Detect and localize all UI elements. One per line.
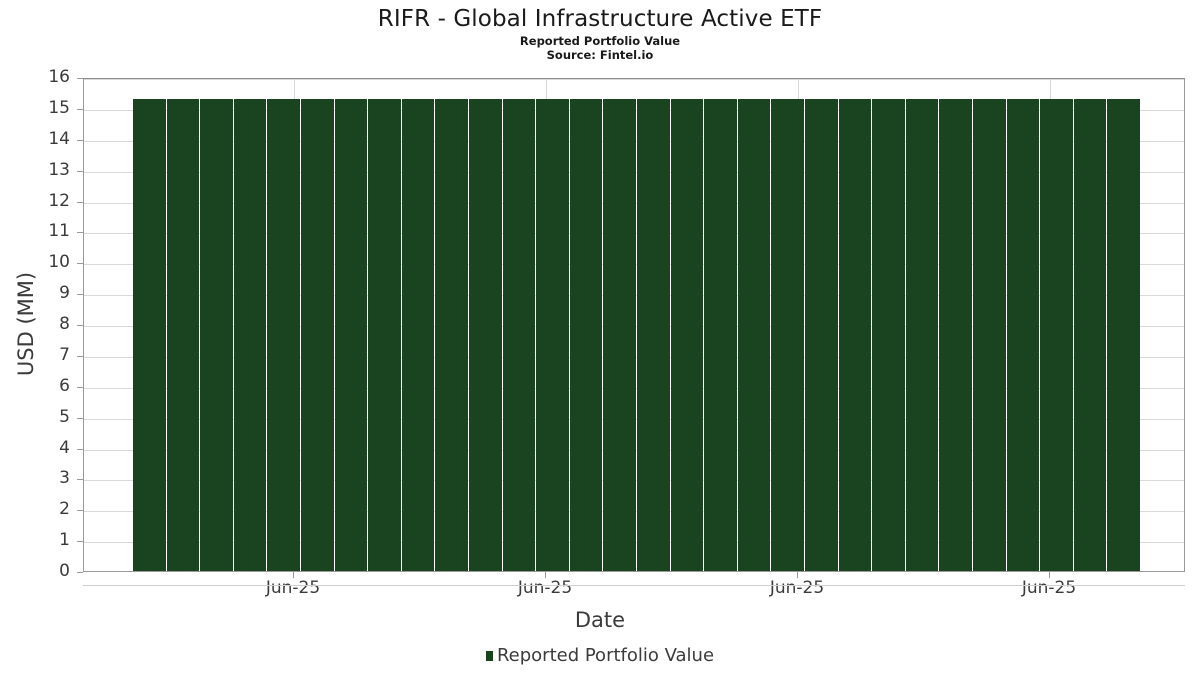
legend-label: Reported Portfolio Value [497,646,714,666]
y-axis-tick-label: 2 [10,501,70,518]
page-title: RIFR - Global Infrastructure Active ETF [0,4,1200,34]
y-axis-tick-mark [77,479,83,480]
legend-swatch-icon [486,651,493,661]
y-axis-tick-label: 14 [10,131,70,148]
bar [301,99,334,571]
bar [234,99,267,571]
y-axis-tick-mark [77,387,83,388]
y-axis-tick-mark [77,294,83,295]
y-axis-tick-mark [77,78,83,79]
y-axis-tick-mark [77,572,83,573]
bar [335,99,368,571]
bar [1107,99,1140,571]
y-axis-tick-label: 1 [10,532,70,549]
bar [637,99,670,571]
x-axis-title: Date [0,608,1200,632]
chart-subtitle: Reported Portfolio Value [0,34,1200,48]
y-axis-tick-label: 15 [10,100,70,117]
y-axis-title: USD (MM) [14,204,38,444]
y-axis-tick-mark [77,109,83,110]
y-axis-tick-mark [77,263,83,264]
bar [133,99,166,571]
y-axis-tick-mark [77,202,83,203]
bar [738,99,771,571]
x-axis-tick-label: Jun-25 [969,578,1129,598]
plot-area [83,78,1185,572]
bar-series-reported-portfolio-value [84,79,1184,571]
y-axis-tick-mark [77,356,83,357]
chart-legend: Reported Portfolio Value [0,646,1200,666]
chart-source: Source: Fintel.io [0,48,1200,62]
x-axis-tick-label: Jun-25 [717,578,877,598]
bar [167,99,200,571]
y-axis-tick-mark [77,171,83,172]
y-axis-tick-mark [77,541,83,542]
y-axis-tick-mark [77,449,83,450]
bar [872,99,905,571]
y-axis-tick-label: 13 [10,162,70,179]
bar [469,99,502,571]
bar [704,99,737,571]
bar [200,99,233,571]
x-axis-baseline [83,585,1185,586]
y-axis-tick-mark [77,140,83,141]
bar [570,99,603,571]
bar [973,99,1006,571]
bar [671,99,704,571]
bar [805,99,838,571]
bar [536,99,569,571]
y-axis-tick-mark [77,325,83,326]
bar [603,99,636,571]
bar [839,99,872,571]
x-axis-tick-label: Jun-25 [465,578,625,598]
x-axis-tick-label: Jun-25 [213,578,373,598]
bar [435,99,468,571]
bar [771,99,804,571]
bar [368,99,401,571]
bar [402,99,435,571]
bar [503,99,536,571]
bar [906,99,939,571]
y-axis-tick-mark [77,510,83,511]
y-axis-tick-label: 3 [10,470,70,487]
y-axis-tick-mark [77,232,83,233]
y-axis-tick-mark [77,418,83,419]
bar [1007,99,1040,571]
bar [1074,99,1107,571]
bar [267,99,300,571]
bar [939,99,972,571]
bar [1040,99,1073,571]
y-axis-tick-label: 16 [10,69,70,86]
y-axis-tick-label: 0 [10,563,70,580]
chart-header: RIFR - Global Infrastructure Active ETF … [0,0,1200,62]
